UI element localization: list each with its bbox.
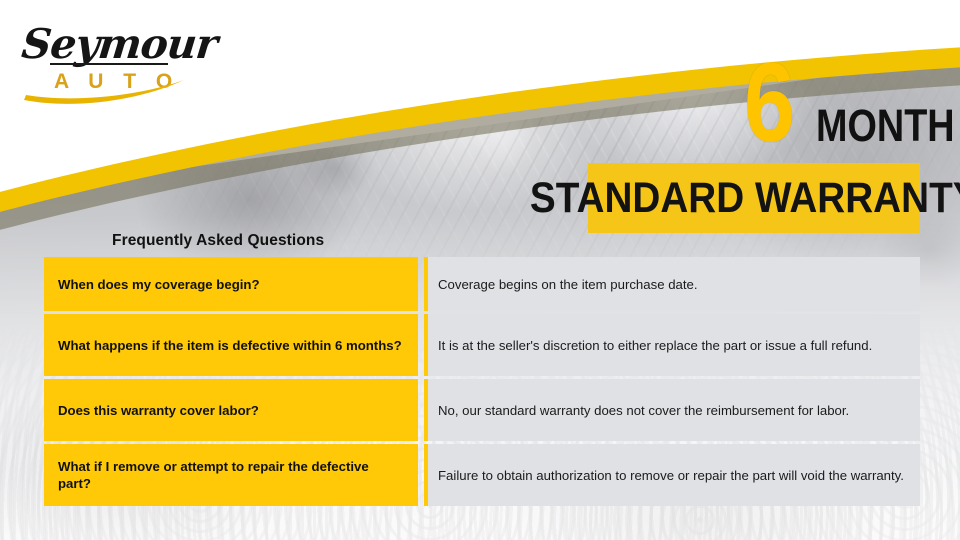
brand-name-script: Seymour [19,20,219,68]
faq-answer-cell: It is at the seller's discretion to eith… [424,314,920,376]
faq-question-text: When does my coverage begin? [58,276,260,293]
faq-question-text: Does this warranty cover labor? [58,402,259,419]
faq-question-cell: When does my coverage begin? [44,257,418,311]
faq-table: When does my coverage begin? Coverage be… [44,257,920,506]
faq-answer-text: It is at the seller's discretion to eith… [438,336,908,355]
table-row: What if I remove or attempt to repair th… [44,444,920,506]
faq-question-cell: What if I remove or attempt to repair th… [44,444,418,506]
brand-logo: Seymour A U T O [16,18,196,104]
faq-question-text: What happens if the item is defective wi… [58,337,402,354]
warranty-duration-unit: MONTH [816,103,955,148]
faq-answer-text: No, our standard warranty does not cover… [438,401,908,420]
faq-question-cell: What happens if the item is defective wi… [44,314,418,376]
table-row: What happens if the item is defective wi… [44,314,920,376]
faq-answer-cell: Coverage begins on the item purchase dat… [424,257,920,311]
brand-underline [50,63,168,65]
table-row: Does this warranty cover labor? No, our … [44,379,920,441]
faq-answer-cell: No, our standard warranty does not cover… [424,379,920,441]
faq-heading: Frequently Asked Questions [112,232,324,250]
warranty-duration-number: 6 [744,47,793,159]
standard-warranty-label: STANDARD WARRANTY [530,177,960,220]
faq-answer-cell: Failure to obtain authorization to remov… [424,444,920,506]
brand-swoosh-icon [16,76,196,106]
faq-answer-text: Coverage begins on the item purchase dat… [438,275,908,294]
faq-question-cell: Does this warranty cover labor? [44,379,418,441]
warranty-slide: Seymour A U T O 6 MONTH STANDARD WARRANT… [0,0,960,540]
standard-warranty-banner: STANDARD WARRANTY [588,163,920,233]
table-row: When does my coverage begin? Coverage be… [44,257,920,311]
faq-answer-text: Failure to obtain authorization to remov… [438,466,908,485]
faq-question-text: What if I remove or attempt to repair th… [58,458,404,492]
